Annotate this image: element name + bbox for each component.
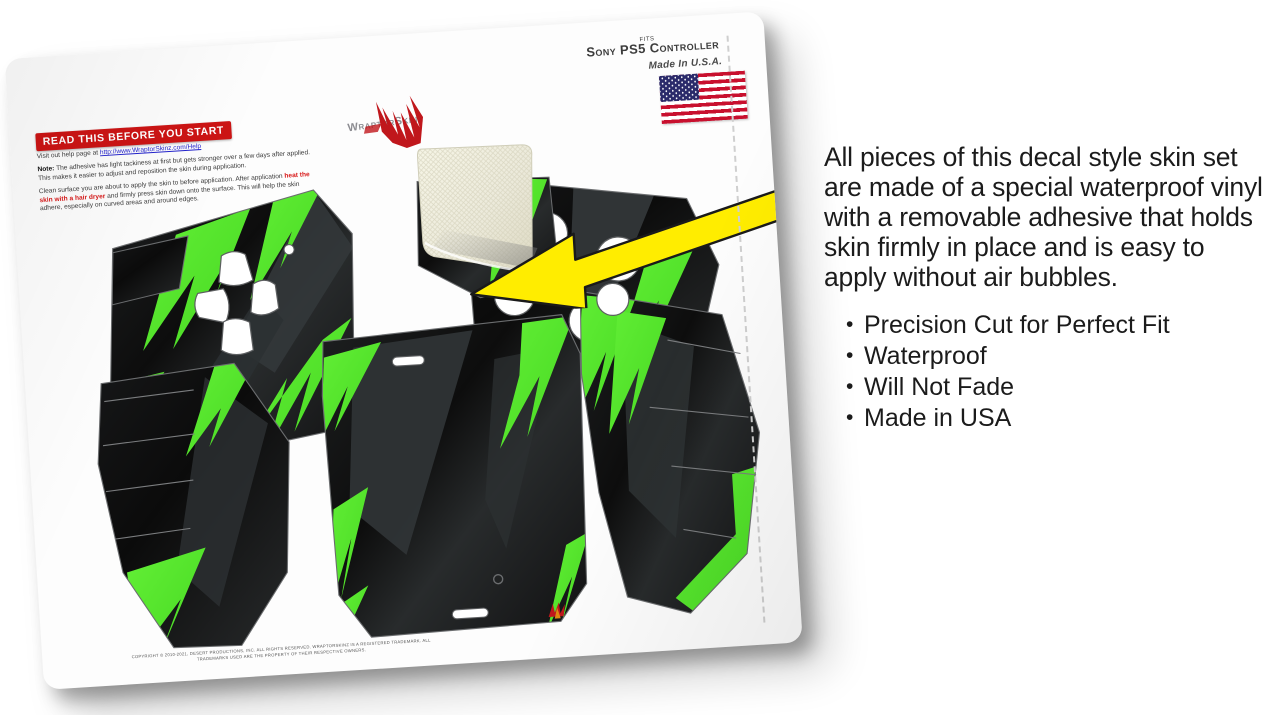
note-label: Note: [37, 166, 54, 174]
marketing-paragraph: All pieces of this decal style skin set … [824, 142, 1272, 292]
flag-canton [659, 74, 700, 102]
peel-corner-arrow [449, 146, 802, 316]
piece-touchpad [312, 314, 597, 644]
list-item: Waterproof [846, 341, 1272, 372]
speaker-cutout [452, 608, 488, 619]
marketing-copy: All pieces of this decal style skin set … [824, 142, 1272, 434]
share-button-cutout [392, 355, 425, 366]
list-item: Made in USA [846, 403, 1272, 434]
wraptor-claw-icon [346, 90, 469, 153]
list-item: Precision Cut for Perfect Fit [846, 310, 1272, 341]
feature-bullet-list: Precision Cut for Perfect Fit Waterproof… [846, 310, 1272, 434]
skin-sheet-wrapper: READ THIS BEFORE YOU START Visit out hel… [0, 0, 835, 715]
list-item: Will Not Fade [846, 372, 1272, 403]
wraptorskinz-logo: WraptorSkinz [346, 90, 469, 153]
us-flag-icon [659, 71, 748, 124]
skin-sheet: READ THIS BEFORE YOU START Visit out hel… [5, 11, 803, 689]
piece-right-grip [566, 281, 772, 624]
product-photo: READ THIS BEFORE YOU START Visit out hel… [0, 0, 1280, 715]
